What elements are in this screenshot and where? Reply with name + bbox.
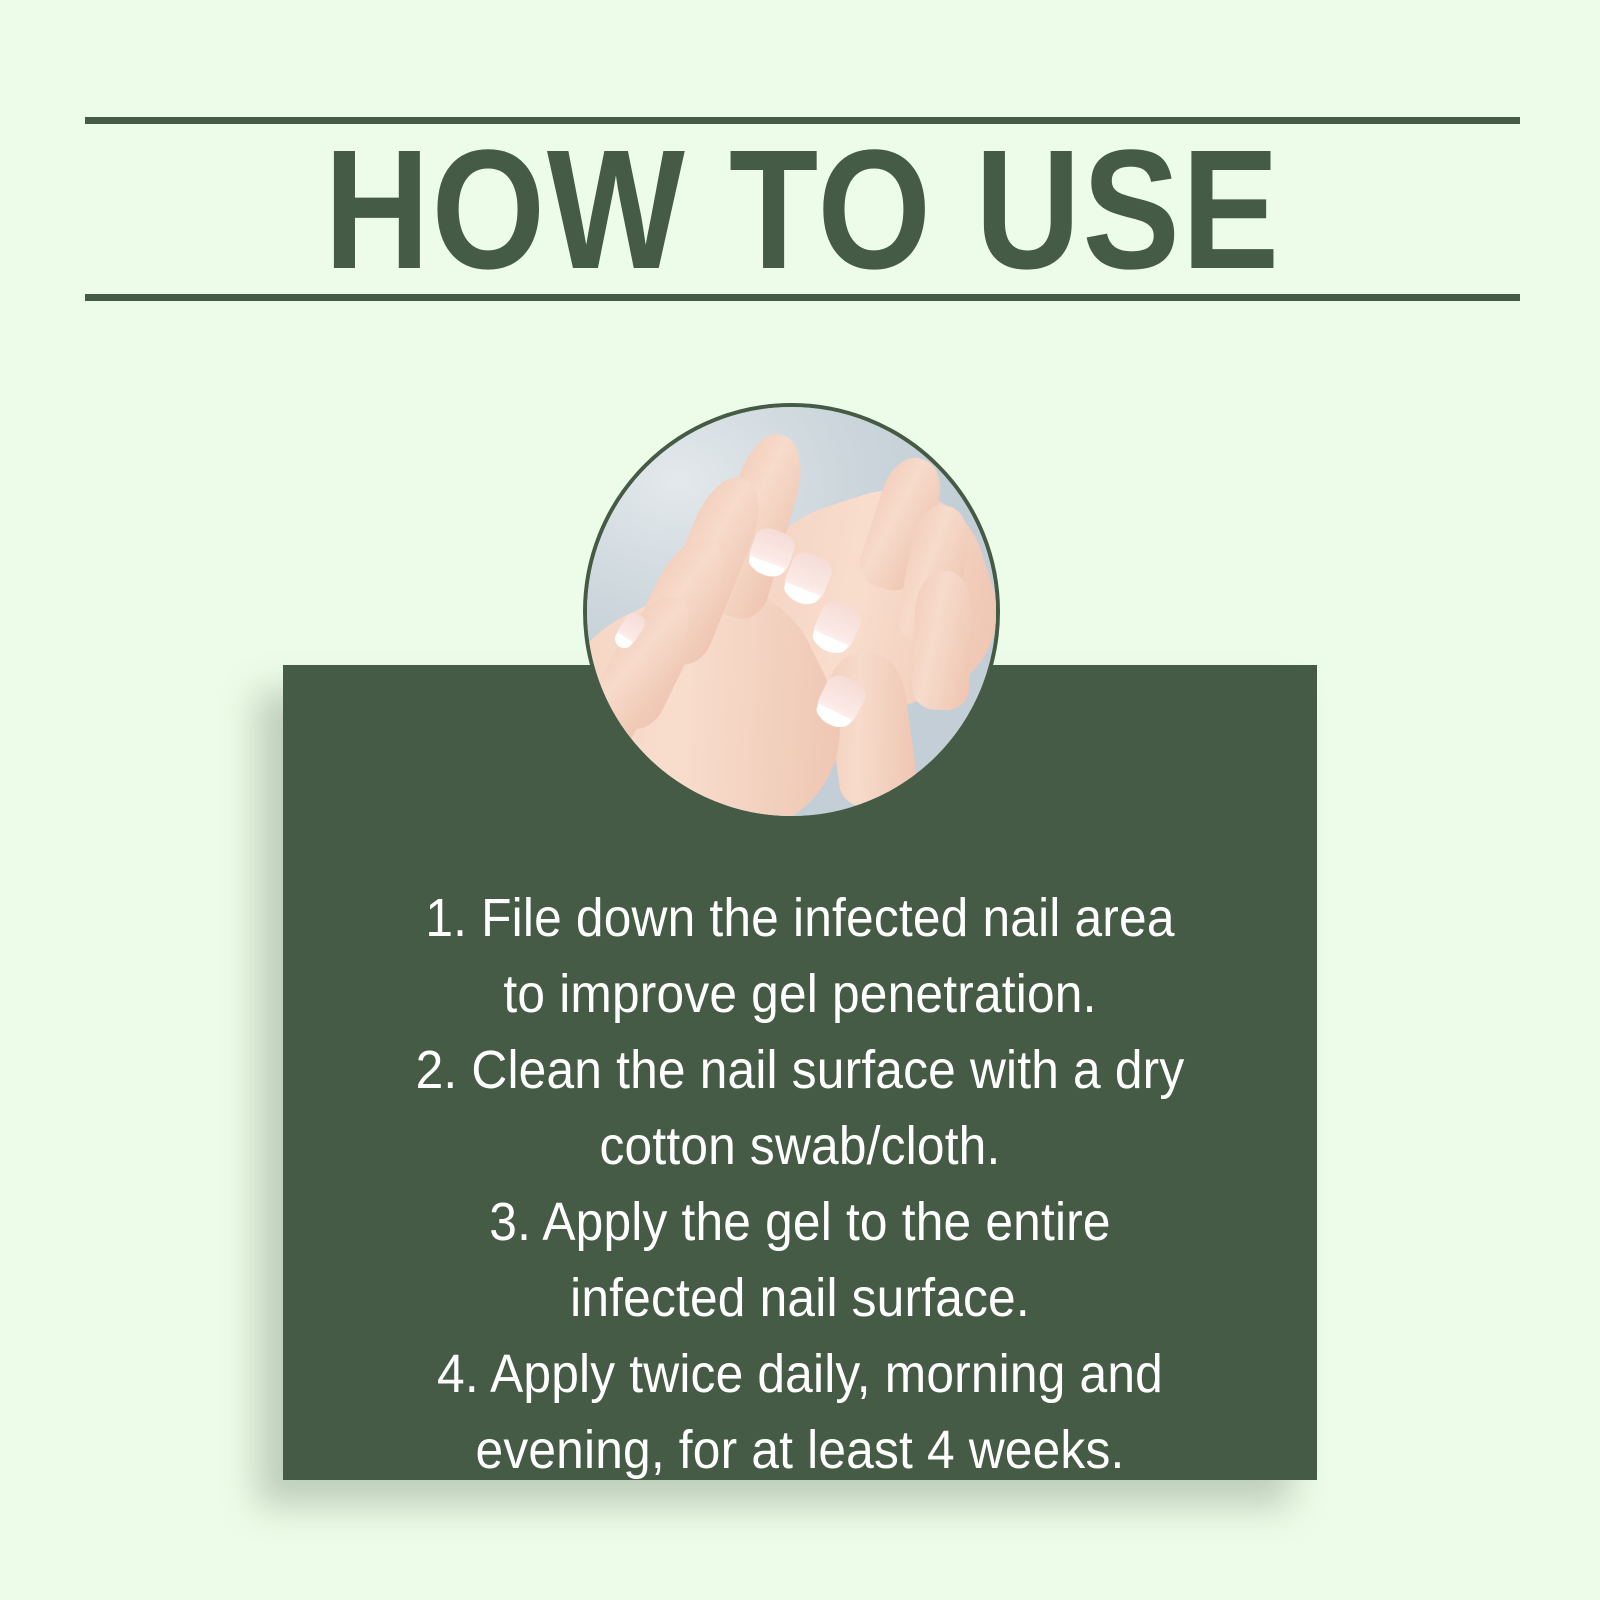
- back-hand-finger: [912, 570, 974, 711]
- step-line: to improve gel penetration.: [324, 956, 1275, 1032]
- step-line: 3. Apply the gel to the entire: [324, 1184, 1275, 1260]
- step-line: 1. File down the infected nail area: [324, 880, 1275, 956]
- step-line: evening, for at least 4 weeks.: [324, 1412, 1275, 1488]
- step-line: 4. Apply twice daily, morning and: [324, 1336, 1275, 1412]
- header-block: HOW TO USE: [85, 117, 1520, 301]
- hands-illustration: [587, 407, 996, 816]
- hands-photo-circle: [583, 403, 1000, 820]
- step-line: cotton swab/cloth.: [324, 1108, 1275, 1184]
- photo-background: [587, 407, 996, 816]
- poster-root: HOW TO USE 1. File down the infected nai…: [0, 0, 1600, 1600]
- instruction-steps-list: 1. File down the infected nail area to i…: [283, 880, 1317, 1488]
- page-title: HOW TO USE: [185, 124, 1419, 294]
- step-line: infected nail surface.: [324, 1260, 1275, 1336]
- step-line: 2. Clean the nail surface with a dry: [324, 1032, 1275, 1108]
